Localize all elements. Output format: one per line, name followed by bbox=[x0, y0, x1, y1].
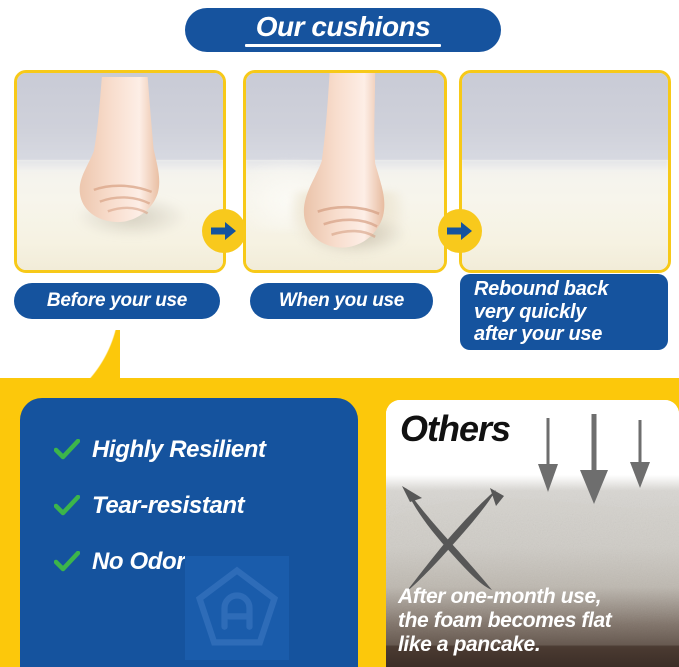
others-caption-line: the foam becomes flat bbox=[398, 609, 672, 633]
title-underline bbox=[245, 44, 441, 47]
photo-panel-during bbox=[243, 70, 447, 273]
photo-background-wall bbox=[462, 73, 668, 164]
check-icon bbox=[54, 439, 80, 461]
check-icon bbox=[54, 495, 80, 517]
down-arrows-group bbox=[536, 414, 666, 504]
photo-panel-after bbox=[459, 70, 671, 273]
caption-line: Rebound back bbox=[474, 278, 608, 300]
feature-item: Highly Resilient bbox=[54, 436, 266, 464]
feature-item: Tear-resistant bbox=[54, 492, 266, 520]
photo-panel-before bbox=[14, 70, 226, 273]
feature-label: Highly Resilient bbox=[92, 436, 266, 464]
caption-line: after your use bbox=[474, 323, 602, 345]
caption-during: When you use bbox=[250, 283, 433, 319]
page-title-badge: Our cushions bbox=[185, 8, 501, 52]
caption-before: Before your use bbox=[14, 283, 220, 319]
infographic-root: Our cushions bbox=[0, 0, 679, 667]
others-caption: After one-month use, the foam becomes fl… bbox=[398, 585, 672, 657]
arrow-right-glyph bbox=[447, 221, 473, 241]
fist-illustration bbox=[290, 73, 409, 262]
photo-sequence bbox=[0, 70, 679, 270]
foam-slab bbox=[462, 160, 668, 270]
x-mark-icon bbox=[400, 486, 520, 596]
foam-edge bbox=[462, 160, 668, 172]
arrow-right-icon-2 bbox=[438, 209, 482, 253]
arrow-right-icon-1 bbox=[202, 209, 246, 253]
others-caption-line: like a pancake. bbox=[398, 633, 672, 657]
others-card: Others After one-month use, the foam bec… bbox=[386, 400, 679, 667]
fist-illustration bbox=[66, 77, 185, 242]
page-title: Our cushions bbox=[256, 13, 430, 41]
pentagon-logo-icon bbox=[185, 556, 289, 660]
check-icon bbox=[54, 551, 80, 573]
others-title: Others bbox=[400, 408, 510, 450]
caption-text: Before your use bbox=[47, 290, 187, 312]
others-caption-line: After one-month use, bbox=[398, 585, 672, 609]
caption-line: very quickly bbox=[474, 301, 586, 323]
caption-text: When you use bbox=[279, 290, 404, 312]
feature-label: Tear-resistant bbox=[92, 492, 244, 520]
arrow-right-glyph bbox=[211, 221, 237, 241]
feature-label: No Odor bbox=[92, 548, 185, 576]
caption-after: Rebound back very quickly after your use bbox=[460, 274, 668, 350]
